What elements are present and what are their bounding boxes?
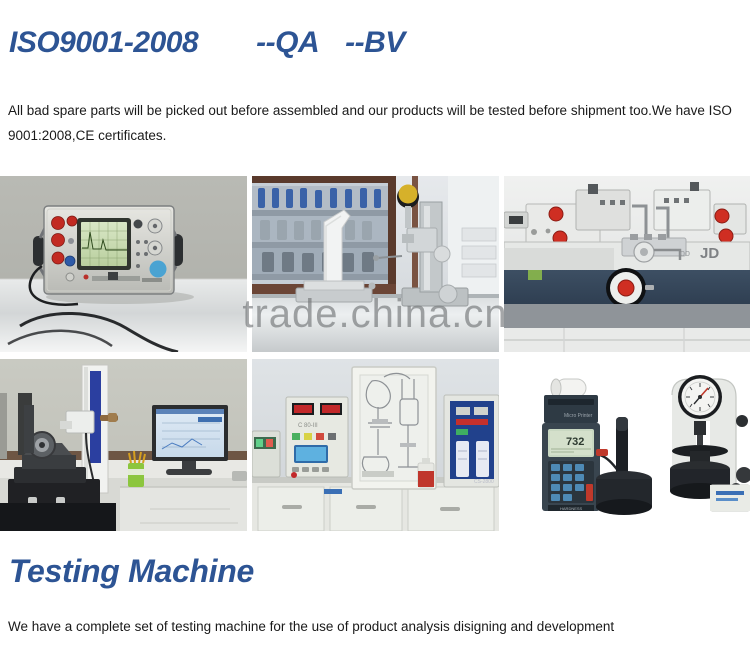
svg-text:JD: JD bbox=[700, 245, 719, 262]
certification-heading-iso: ISO9001-2008 bbox=[9, 26, 198, 59]
gallery-item-ultrasonic-flaw-detector[interactable] bbox=[0, 176, 247, 352]
product-detail-page: ISO9001-2008--QA--BV All bad spare parts… bbox=[0, 0, 750, 669]
svg-text:HARDNESS: HARDNESS bbox=[560, 506, 583, 511]
svg-text:CS-2800: CS-2800 bbox=[474, 479, 494, 485]
testing-machine-description: We have a complete set of testing machin… bbox=[8, 617, 748, 637]
certification-description: All bad spare parts will be picked out b… bbox=[8, 98, 746, 148]
height-gauge-station-photo bbox=[252, 176, 499, 352]
certification-heading-qa: --QA bbox=[256, 26, 319, 59]
gallery-item-optical-comparator-machine[interactable]: JD oo bbox=[504, 176, 750, 352]
chemical-analysis-lab-photo: C 80-III bbox=[252, 359, 499, 531]
coordinate-measuring-machine-photo bbox=[0, 359, 247, 531]
hardness-testers-photo: Micro Printer 732 bbox=[504, 359, 750, 531]
svg-text:Micro Printer: Micro Printer bbox=[564, 413, 593, 419]
gallery-item-hardness-testers[interactable]: Micro Printer 732 bbox=[504, 359, 750, 531]
gallery-item-height-gauge-station[interactable] bbox=[252, 176, 499, 352]
ultrasonic-flaw-detector-photo bbox=[0, 176, 247, 352]
svg-text:732: 732 bbox=[566, 436, 584, 448]
svg-text:C 80-III: C 80-III bbox=[298, 423, 318, 429]
gallery-item-coordinate-measuring-machine[interactable] bbox=[0, 359, 247, 531]
equipment-photo-grid: JD oo bbox=[0, 176, 750, 531]
testing-machine-heading: Testing Machine bbox=[9, 553, 254, 590]
optical-comparator-machine-photo: JD oo bbox=[504, 176, 750, 352]
certification-heading-bv: --BV bbox=[345, 26, 405, 59]
certification-heading: ISO9001-2008--QA--BV bbox=[9, 26, 405, 60]
svg-text:oo: oo bbox=[680, 248, 690, 258]
gallery-item-chemical-analysis-lab[interactable]: C 80-III bbox=[252, 359, 499, 531]
